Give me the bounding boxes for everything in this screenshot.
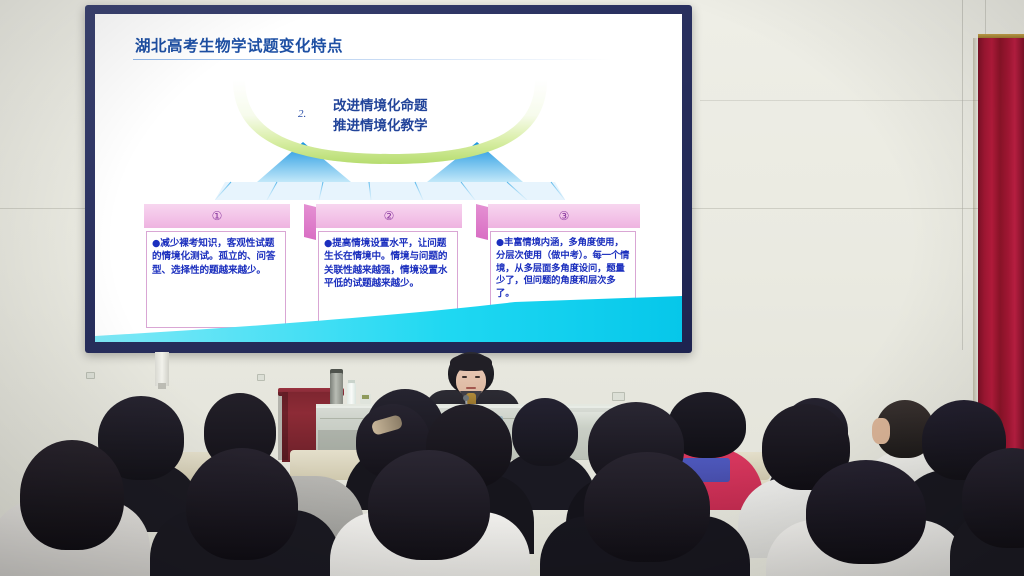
slide-heading-line2: 推进情境化教学 <box>333 116 428 136</box>
panel-tab-3: ③ <box>488 204 640 228</box>
projection-screen-bezel[interactable]: 湖北高考生物学试题变化特点 <box>85 5 692 353</box>
panel-tab-2: ② <box>316 204 462 228</box>
panel-text-3: ●丰富情境内涵，多角度使用，分层次使用（做中考）。每一个情境，从多层面多角度设问… <box>496 237 630 301</box>
audience-face-profile <box>872 418 890 444</box>
thermos <box>330 373 343 405</box>
wall-outlet-mid-left <box>257 374 265 381</box>
panel-tab-1: ① <box>144 204 290 228</box>
screen-wall-mount <box>155 352 169 386</box>
curtain-shadow <box>973 38 978 458</box>
presenter-hair <box>450 354 492 371</box>
lectern-side <box>278 392 288 460</box>
presentation-slide: 湖北高考生物学试题变化特点 <box>95 14 682 342</box>
slide-title: 湖北高考生物学试题变化特点 <box>135 34 343 56</box>
panel-text-2: ●提高情境设置水平，让问题生长在情境中。情境与问题的关联性越来越强，情境设置水平… <box>324 237 452 291</box>
panel-fold-2 <box>304 204 316 240</box>
panel-marker-2: ② <box>384 210 395 222</box>
panel-fold-3 <box>476 204 488 240</box>
red-curtain <box>978 38 1024 458</box>
wall-seam-vertical-a <box>962 0 963 350</box>
wall-outlet-left <box>86 372 95 379</box>
projection-screen[interactable]: 湖北高考生物学试题变化特点 <box>95 14 682 342</box>
cyan-wave-decoration <box>95 296 682 342</box>
wall-outlet-right <box>612 392 625 401</box>
audience-head <box>512 398 578 466</box>
bowl-graphic: 2. 改进情境化命题 推进情境化教学 <box>215 74 565 199</box>
audience-head-foreground <box>806 460 926 564</box>
slide-heading-number: 2. <box>298 104 306 124</box>
panel-text-1: ●减少裸考知识，客观性试题的情境化测试。孤立的、问答型、选择性的题越来越少。 <box>152 237 280 277</box>
presenter-eye-left <box>462 376 467 378</box>
presenter-mouth <box>466 387 476 389</box>
audience-head-foreground <box>20 440 124 550</box>
slide-heading: 2. 改进情境化命题 推进情境化教学 <box>333 96 428 136</box>
presenter-eye-right <box>475 376 480 378</box>
panel-marker-3: ③ <box>559 210 570 222</box>
screen-mount-bracket <box>158 383 166 389</box>
title-underline <box>133 59 653 60</box>
audience-head-foreground <box>186 448 298 560</box>
lecture-hall-screenshot: 湖北高考生物学试题变化特点 <box>0 0 1024 576</box>
slide-heading-line1: 改进情境化命题 <box>333 96 428 116</box>
audience-head-foreground <box>368 450 490 560</box>
panel-marker-1: ① <box>212 210 223 222</box>
audience-head-foreground <box>584 452 710 562</box>
microphone-head <box>463 395 469 401</box>
tea-cup-contents <box>362 395 369 399</box>
